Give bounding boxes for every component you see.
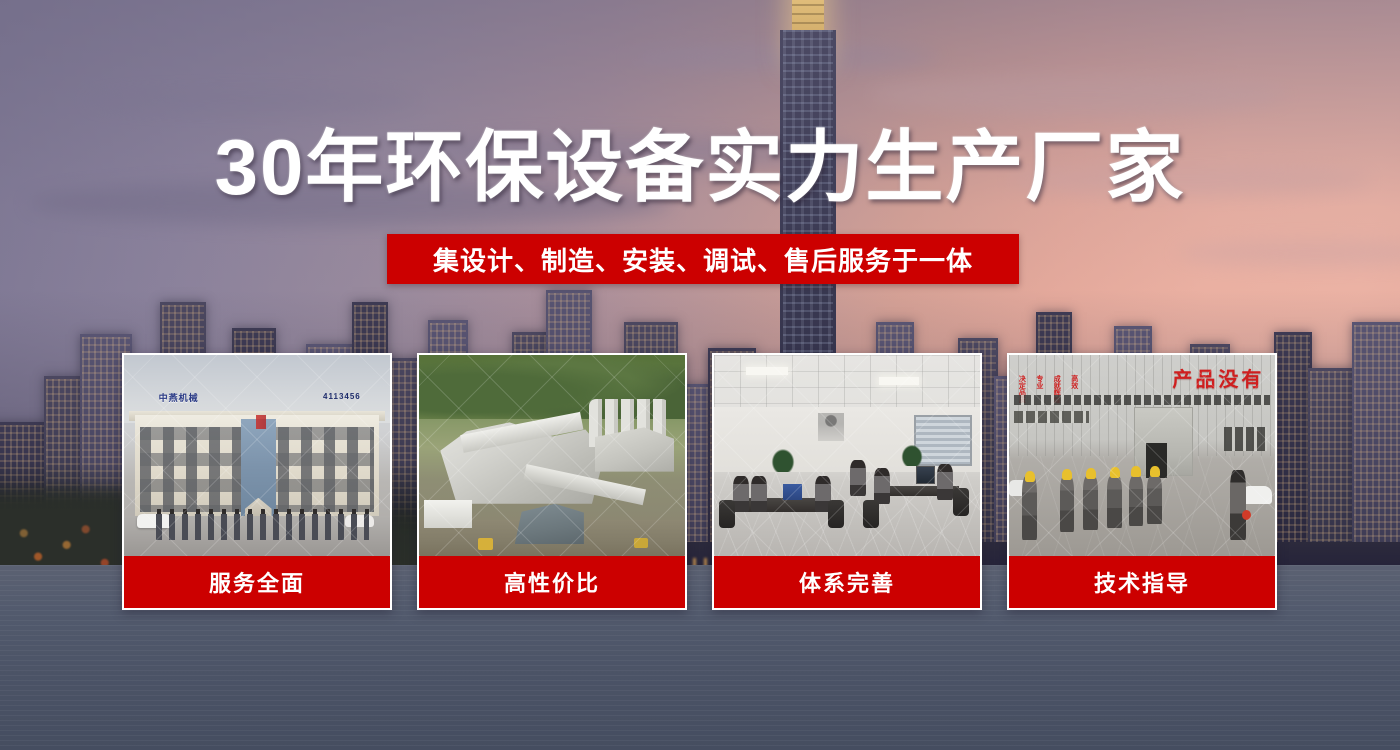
plant-loading-shed [515, 504, 584, 544]
cloud-band-3 [868, 75, 1288, 115]
hq-staff-row [153, 514, 368, 540]
card-photo-office [714, 355, 980, 556]
feature-card[interactable]: 体系完善 [712, 353, 982, 610]
cloud-band-7 [84, 90, 420, 112]
office-chair [719, 500, 735, 528]
hard-hat-icon [1131, 466, 1141, 477]
hard-hat-icon [1086, 468, 1096, 479]
feature-card[interactable]: 产品没有 决定品质 专业 成就辉煌 高效 [1007, 353, 1277, 610]
card-photo-headquarters: 中燕机械 4113456 [124, 355, 390, 556]
office-potted-plant [770, 447, 797, 471]
banner-headline: 30年环保设备实力生产厂家 [215, 128, 1186, 206]
hard-hat-icon [1062, 469, 1072, 480]
office-chair [828, 500, 844, 528]
factory-worker [1060, 476, 1075, 532]
office-wall-decal [818, 413, 845, 441]
office-photo [714, 355, 980, 556]
office-ceiling-light [879, 377, 919, 385]
factory-worker [1083, 476, 1098, 530]
office-person [874, 468, 890, 504]
office-person [850, 460, 866, 496]
card-photo-factory: 产品没有 决定品质 专业 成就辉煌 高效 [1009, 355, 1275, 556]
card-label: 技术指导 [1009, 556, 1275, 608]
hq-company-sign: 中燕机械 [159, 391, 199, 404]
plant-excavator [478, 538, 494, 550]
factory-photo: 产品没有 决定品质 专业 成就辉煌 高效 [1009, 355, 1275, 556]
factory-window-right [1224, 427, 1267, 451]
hq-photo: 中燕机械 4113456 [124, 355, 390, 556]
hard-hat-icon [1110, 467, 1120, 478]
promo-banner: 30年环保设备实力生产厂家 集设计、制造、安装、调试、售后服务于一体 中燕机械 … [0, 0, 1400, 750]
office-chair [863, 500, 879, 528]
card-label: 服务全面 [124, 556, 390, 608]
factory-wall-banner-text: 产品没有 [1172, 363, 1264, 392]
office-ceiling-light [746, 367, 789, 375]
office-ceiling [714, 355, 980, 407]
office-laptop [783, 484, 802, 500]
factory-window-strip [1014, 411, 1088, 423]
subtitle-banner: 集设计、制造、安装、调试、售后服务于一体 [387, 234, 1019, 284]
office-person [937, 464, 953, 500]
factory-supervisor [1230, 470, 1246, 540]
office-chair [953, 488, 969, 516]
office-monitor [916, 466, 935, 484]
card-label: 高性价比 [419, 556, 685, 608]
factory-worker [1129, 476, 1144, 526]
office-person [751, 476, 767, 512]
card-label: 体系完善 [714, 556, 980, 608]
red-helmet-icon [1242, 510, 1251, 520]
hard-hat-icon [1150, 466, 1160, 477]
card-photo-plant [419, 355, 685, 556]
feature-card-row: 中燕机械 4113456 服务全面 [122, 353, 1278, 610]
factory-worker [1107, 476, 1122, 528]
feature-card[interactable]: 中燕机械 4113456 服务全面 [122, 353, 392, 610]
hq-flag [256, 415, 267, 429]
feature-card[interactable]: 高性价比 [417, 353, 687, 610]
hq-phone-number: 4113456 [323, 392, 361, 401]
subtitle-text: 集设计、制造、安装、调试、售后服务于一体 [433, 241, 973, 278]
office-potted-plant [900, 443, 924, 465]
factory-window-strip [1014, 395, 1269, 405]
plant-photo [419, 355, 685, 556]
plant-office-block [424, 500, 472, 528]
hard-hat-icon [1025, 471, 1035, 482]
plant-excavator [634, 538, 647, 548]
factory-worker [1147, 476, 1162, 524]
factory-worker [1022, 476, 1037, 540]
factory-car [1243, 486, 1272, 504]
headline-container: 30年环保设备实力生产厂家 [0, 128, 1400, 206]
